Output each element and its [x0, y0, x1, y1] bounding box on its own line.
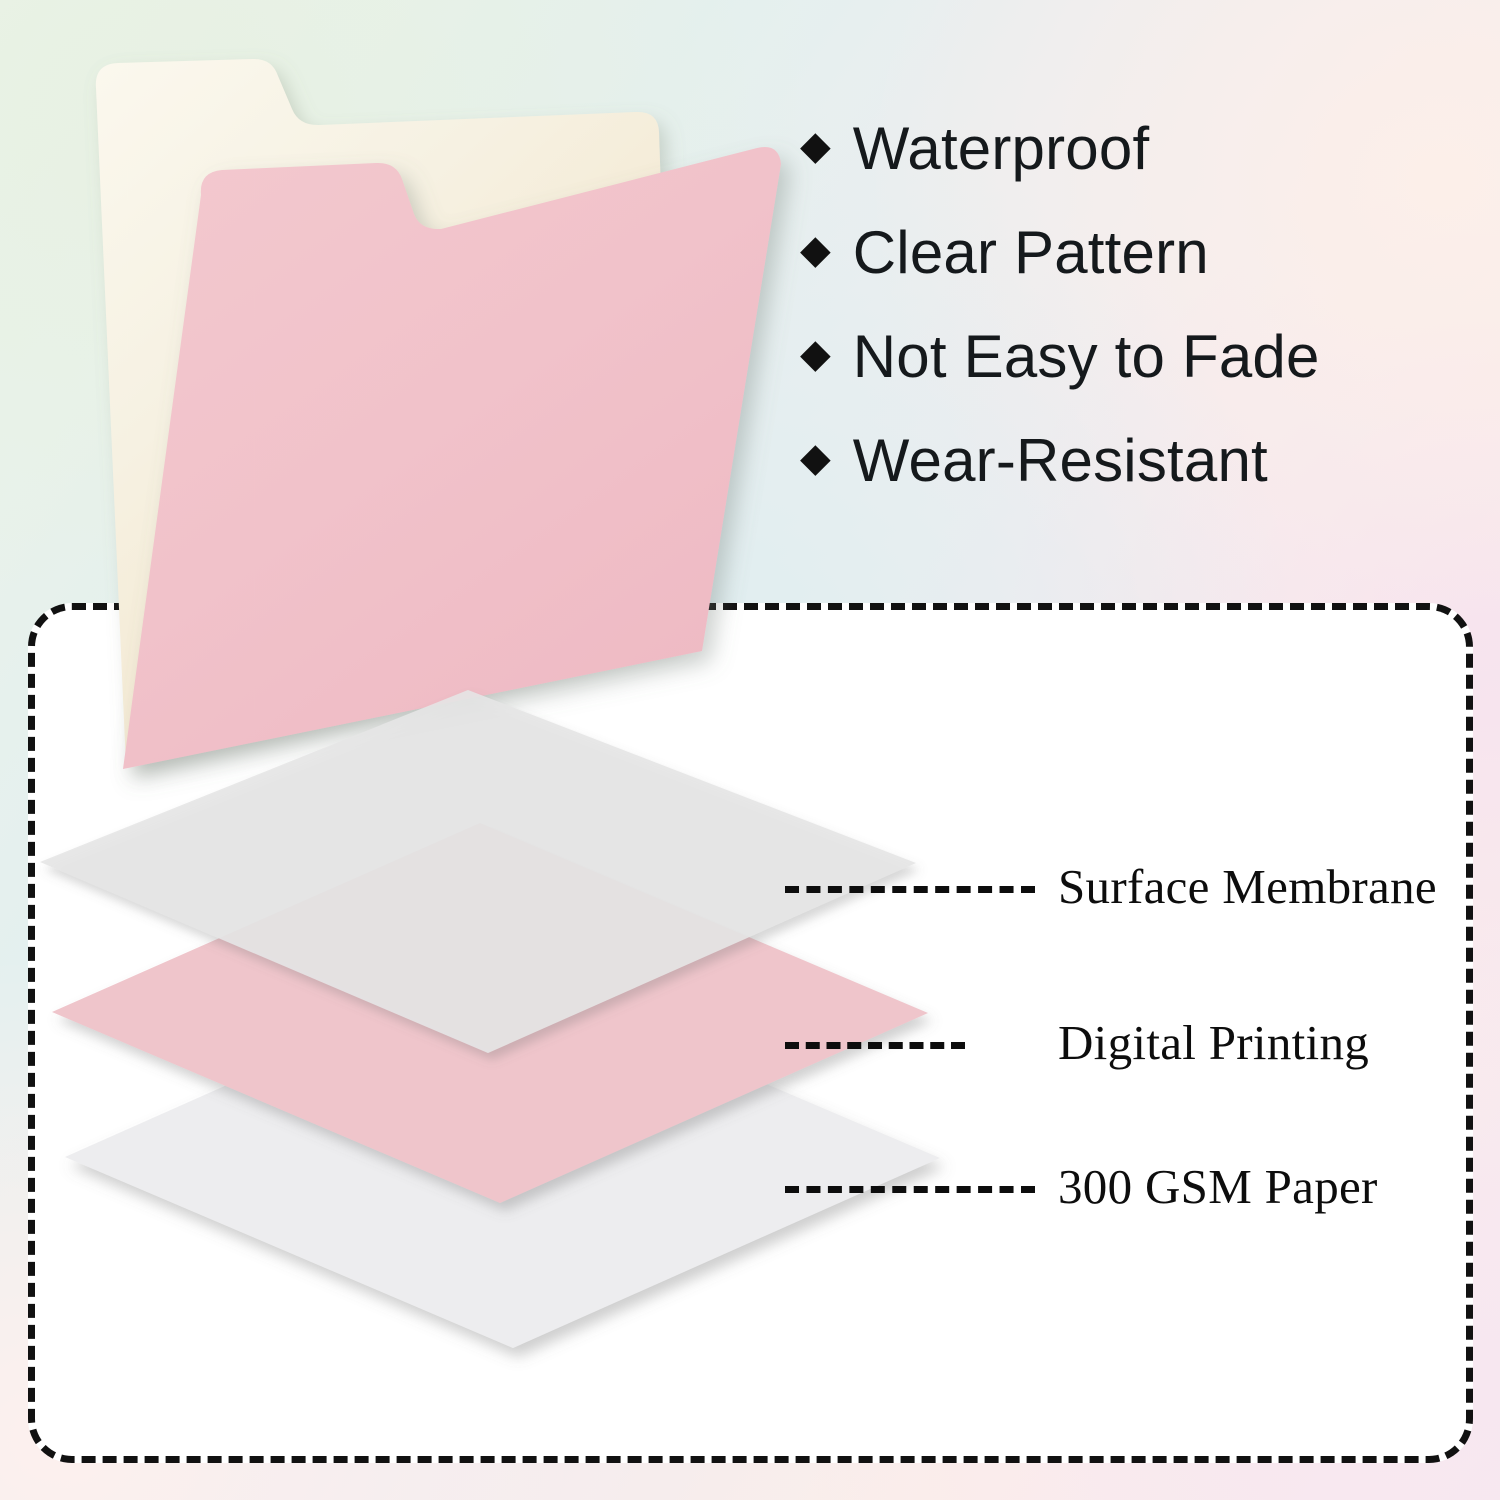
leader-line-digital-printing — [785, 1042, 965, 1049]
infographic-canvas: Surface Membrane Digital Printing 300 GS… — [0, 0, 1500, 1500]
feature-item-not-easy-to-fade: ◆ Not Easy to Fade — [800, 304, 1440, 408]
exploded-layer-stack — [40, 690, 1000, 1370]
diamond-bullet-icon: ◆ — [800, 334, 831, 374]
feature-label: Not Easy to Fade — [853, 322, 1320, 391]
layer-label-paper-base: 300 GSM Paper — [1058, 1158, 1378, 1215]
diamond-bullet-icon: ◆ — [800, 438, 831, 478]
diamond-bullet-icon: ◆ — [800, 230, 831, 270]
feature-item-clear-pattern: ◆ Clear Pattern — [800, 200, 1440, 304]
feature-label: Clear Pattern — [853, 218, 1209, 287]
leader-line-surface-membrane — [785, 886, 1035, 893]
pink-folder — [0, 0, 700, 660]
feature-label: Wear-Resistant — [853, 426, 1268, 495]
layer-label-digital-printing: Digital Printing — [1058, 1014, 1369, 1071]
feature-item-wear-resistant: ◆ Wear-Resistant — [800, 408, 1440, 512]
leader-line-paper-base — [785, 1186, 1035, 1193]
feature-item-waterproof: ◆ Waterproof — [800, 96, 1440, 200]
feature-list: ◆ Waterproof ◆ Clear Pattern ◆ Not Easy … — [800, 96, 1440, 512]
layer-label-surface-membrane: Surface Membrane — [1058, 858, 1437, 915]
diamond-bullet-icon: ◆ — [800, 126, 831, 166]
feature-label: Waterproof — [853, 114, 1150, 183]
